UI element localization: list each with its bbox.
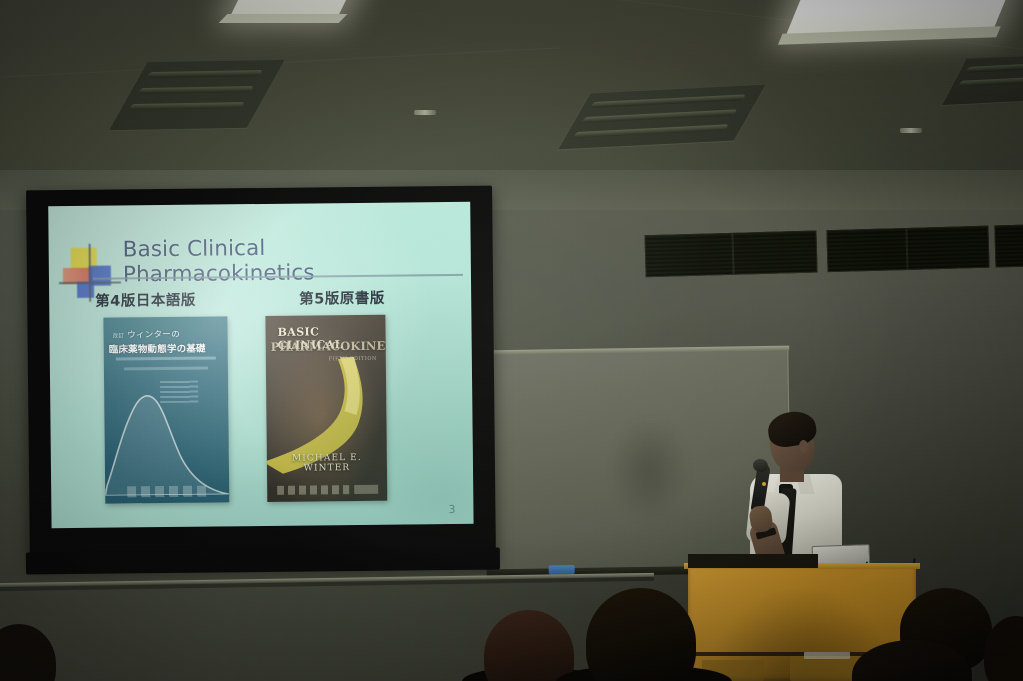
whiteboard-smudge — [608, 414, 690, 525]
ceiling-light-fixture-unlit — [941, 52, 1023, 106]
book-cover-japanese-4th-edition: 改訂ウィンターの 臨床薬物動態学の基礎 — [103, 316, 229, 503]
air-vent-panel — [994, 224, 1023, 267]
ceiling — [0, 0, 1023, 178]
sprinkler-head-icon — [414, 110, 436, 115]
slide-page-number: 3 — [448, 503, 455, 516]
air-vent-panel — [906, 226, 989, 270]
air-vent-panel — [732, 230, 817, 274]
pharmacokinetic-curve-graphic — [104, 366, 229, 495]
book-jp-subtitle-line — [116, 356, 216, 360]
book-jp-publisher-logo — [127, 486, 207, 498]
slide-title: Basic Clinical Pharmacokinetics — [123, 234, 464, 288]
lecture-hall-photo: Basic Clinical Pharmacokinetics 第4版日本語版 … — [0, 0, 1023, 681]
book-jp-title-line2: 臨床薬物動態学の基礎 — [109, 341, 206, 356]
projection-screen: Basic Clinical Pharmacokinetics 第4版日本語版 … — [26, 186, 496, 567]
book-jp-revision-mark: 改訂 — [113, 333, 125, 339]
air-vent-panel — [644, 233, 733, 277]
book-en-publisher-mark — [354, 485, 378, 494]
book-en-title-line2: PHARMACOKINETICS — [271, 338, 388, 354]
audience-desk-paper — [804, 652, 850, 659]
ceiling-tile-seam — [0, 47, 559, 77]
whiteboard-eraser — [549, 565, 575, 574]
ceiling-light-fixture-lit — [786, 0, 1019, 36]
book-en-publisher-logo — [277, 485, 349, 495]
ceiling-light-fixture-unlit — [108, 59, 287, 131]
book-cover-english-5th-edition: BASIC CLINICAL PHARMACOKINETICS FIFTH ED… — [265, 315, 387, 502]
slide-column-heading-english: 第5版原書版 — [299, 287, 385, 309]
air-vent-grille-band — [644, 225, 1023, 278]
book-en-author: MICHAEL E. WINTER — [267, 453, 387, 474]
lectern-shadow-band — [688, 554, 818, 568]
ceiling-tile-seam — [432, 0, 1023, 53]
ceiling-light-fixture-lit — [230, 0, 358, 16]
ceiling-light-fixture-unlit — [557, 84, 768, 151]
microphone-indicator-led — [762, 482, 766, 486]
presenter-ear — [799, 440, 808, 453]
book-jp-title-line1: 改訂ウィンターの — [112, 328, 180, 341]
air-vent-panel — [826, 228, 907, 272]
sprinkler-head-icon — [900, 128, 922, 133]
book-en-edition-label: FIFTH EDITION — [329, 356, 377, 363]
slide-column-heading-japanese: 第4版日本語版 — [95, 289, 196, 311]
projected-slide: Basic Clinical Pharmacokinetics 第4版日本語版 … — [48, 202, 473, 528]
